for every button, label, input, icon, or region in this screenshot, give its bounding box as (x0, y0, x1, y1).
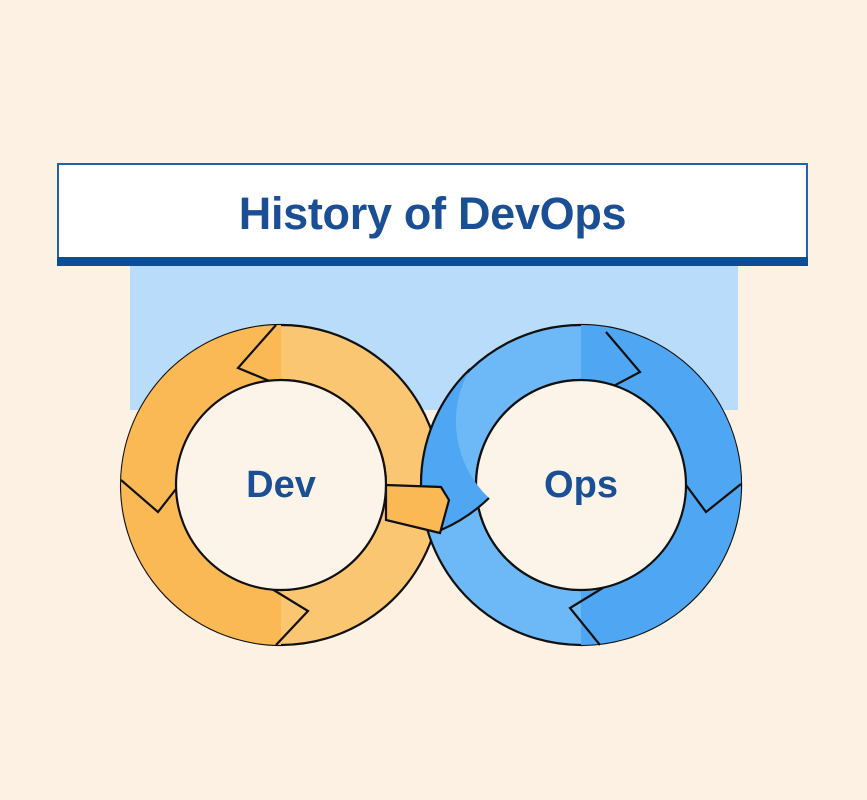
page-title: History of DevOps (239, 191, 627, 240)
infinity-loop-svg (0, 0, 867, 800)
title-banner: History of DevOps (57, 163, 808, 265)
ops-loop-label: Ops (481, 466, 681, 504)
title-banner-underline (57, 257, 808, 266)
devops-infinity-diagram: Dev Ops (0, 0, 867, 800)
slide-canvas: Dev Ops History of DevOps (0, 0, 867, 800)
dev-loop-label: Dev (181, 466, 381, 504)
